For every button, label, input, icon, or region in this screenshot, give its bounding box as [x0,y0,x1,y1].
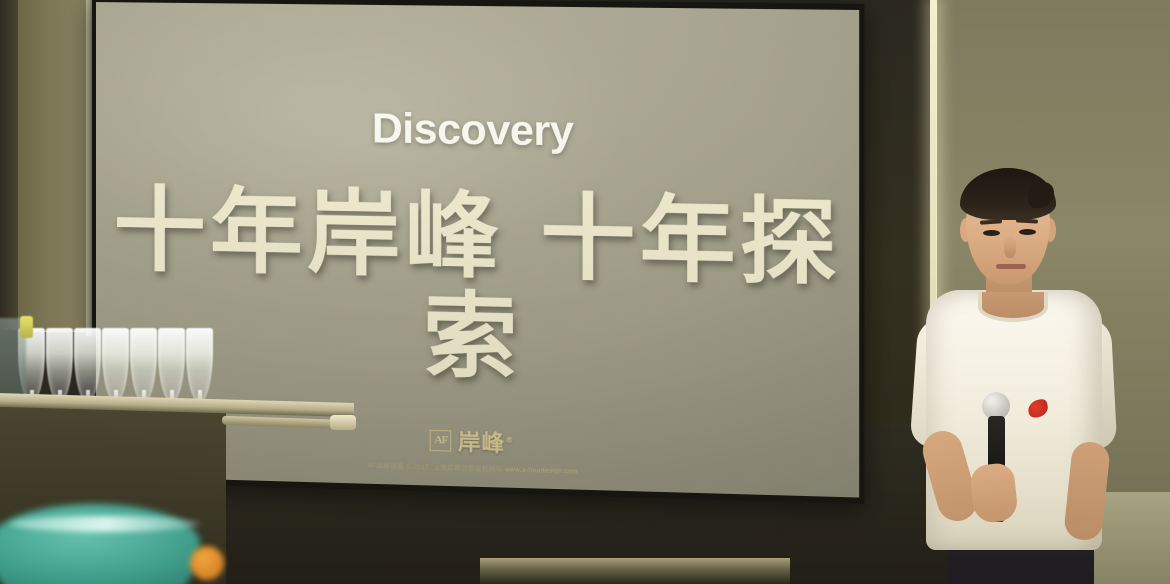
copyright-text: AF岸峰创意 © 2017, 上海岸峰创意版权所有 [367,463,502,474]
tshirt-collar [978,292,1048,322]
wine-glass [46,328,73,402]
presenter-nose [1004,236,1016,258]
orange-object [190,546,224,580]
slide-title: Discovery [96,100,859,160]
bottle-cap [20,316,33,338]
wordmark-text: 岸峰 [458,431,505,458]
trademark-icon: ® [505,435,514,444]
wine-glass [74,328,101,402]
presentation-photo: Discovery 十年岸峰 十年探索 AF 岸峰® AF岸峰创意 © 2017… [0,0,1170,584]
presenter-mouth [996,264,1026,269]
presenter-right-eye [1019,229,1036,235]
presenter-hair [960,168,1056,220]
wine-glass [102,328,129,402]
presenter [900,150,1130,584]
brand-wordmark: 岸峰® [458,424,515,458]
presenter-left-eye [983,230,1000,236]
rail-end-cap [330,415,356,430]
af-monogram-icon: AF [430,429,452,451]
bowl-rim-highlight [10,516,200,532]
lit-ledge [480,558,790,584]
wine-glass [130,328,157,402]
left-wall-panel [18,0,90,332]
wine-glass [186,328,213,402]
website-url: www.a-fourdesign.com [505,466,578,475]
wine-glass [158,328,185,402]
presenter-hand [969,462,1019,524]
